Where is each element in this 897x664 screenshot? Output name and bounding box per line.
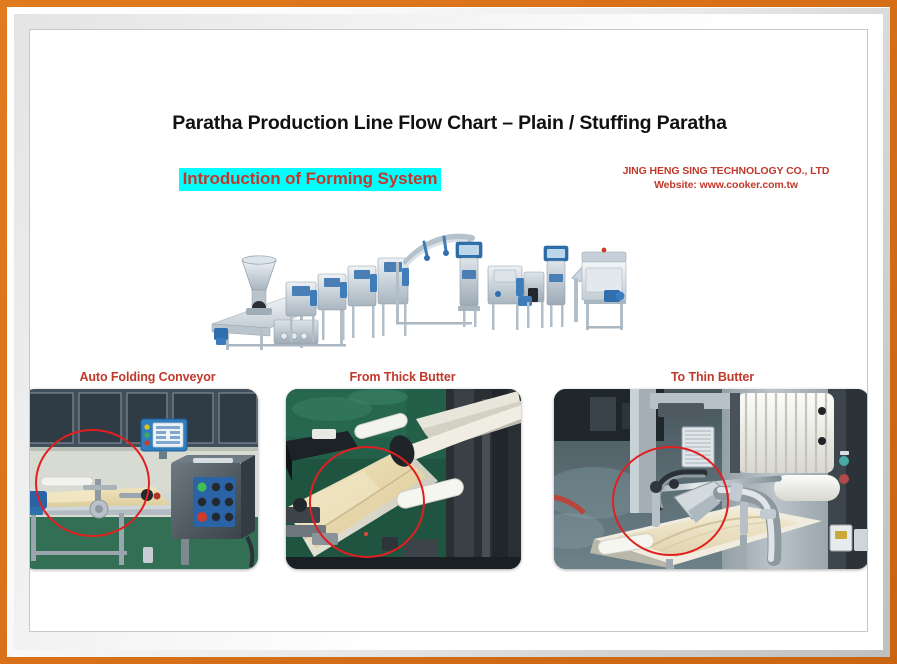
photo-from-thick-butter bbox=[286, 389, 521, 569]
production-line-photo bbox=[200, 216, 630, 351]
photo-to-thin-butter bbox=[554, 389, 868, 569]
company-name: JING HENG SING TECHNOLOGY CO., LTD bbox=[590, 164, 862, 178]
annotation-circle-photo-1 bbox=[35, 429, 150, 537]
slide-page: Paratha Production Line Flow Chart – Pla… bbox=[29, 29, 868, 632]
picture-frame-outer: Paratha Production Line Flow Chart – Pla… bbox=[0, 0, 897, 664]
subtitle-container: Introduction of Forming System bbox=[30, 168, 590, 191]
photo-caption-to-thin-butter: To Thin Butter bbox=[550, 370, 868, 384]
section-subtitle: Introduction of Forming System bbox=[179, 168, 442, 191]
page-title: Paratha Production Line Flow Chart – Pla… bbox=[30, 112, 868, 135]
photo-caption-from-thick-butter: From Thick Butter bbox=[285, 370, 520, 384]
annotation-circle-photo-2 bbox=[309, 446, 425, 558]
annotation-circle-photo-3 bbox=[612, 446, 729, 556]
company-info: JING HENG SING TECHNOLOGY CO., LTD Websi… bbox=[590, 164, 862, 192]
company-website: Website: www.cooker.com.tw bbox=[590, 178, 862, 192]
photo-caption-auto-folding-conveyor: Auto Folding Conveyor bbox=[30, 370, 265, 384]
photo-auto-folding-conveyor bbox=[29, 389, 258, 569]
